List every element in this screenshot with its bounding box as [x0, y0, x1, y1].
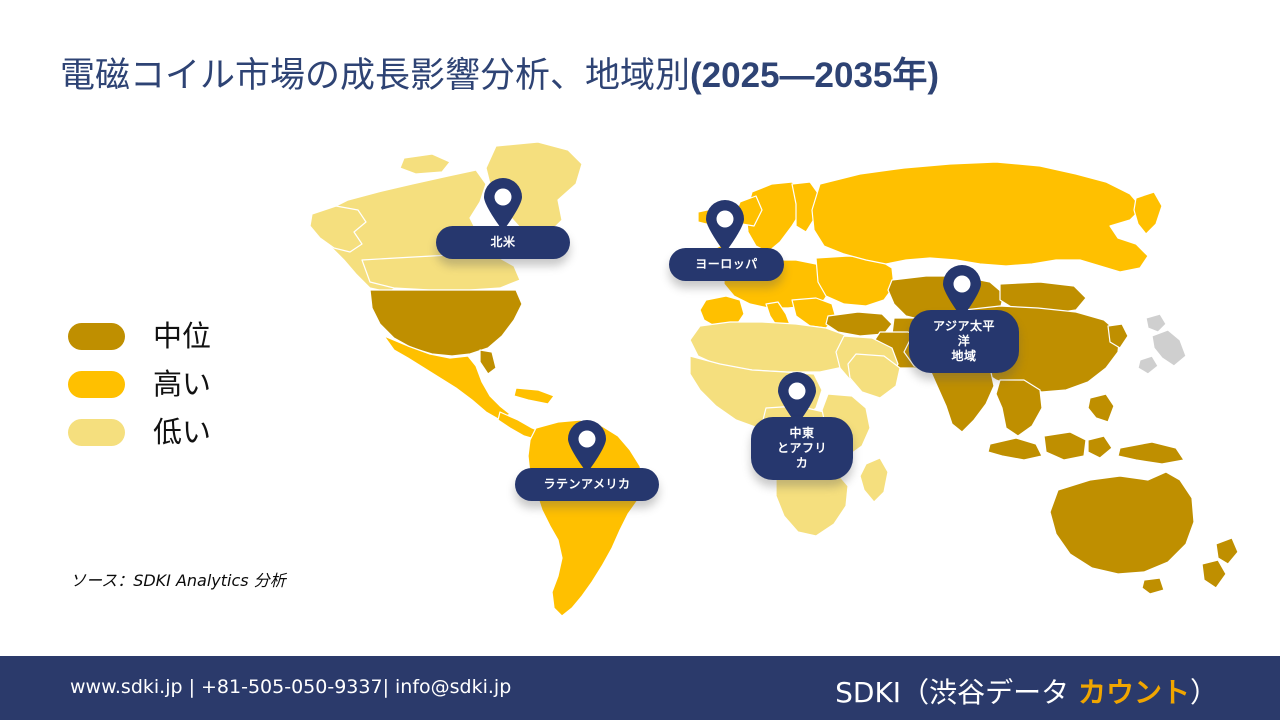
- legend-label-low: 低い: [153, 418, 211, 447]
- map-pin-icon: [482, 178, 524, 232]
- region-alaska: [310, 206, 366, 252]
- slide-canvas: 電磁コイル市場の成長影響分析、地域別(2025—2035年) 中位 高い 低い …: [0, 0, 1280, 720]
- legend-swatch-high: [68, 371, 125, 398]
- region-japan-kyushu: [1138, 356, 1158, 374]
- region-canada-arctic-isles: [400, 154, 450, 174]
- world-map: 北米 ヨーロッパ アジア太平洋 地域 中東 とアフリカ: [300, 140, 1260, 640]
- legend-label-medium: 中位: [153, 322, 211, 351]
- pin-label-latin-america[interactable]: ラテンアメリカ: [515, 468, 659, 501]
- region-new-guinea: [1118, 442, 1184, 464]
- source-note: ソース：SDKI Analytics 分析: [70, 567, 286, 591]
- footer-brand-accent: カウント: [1078, 676, 1190, 709]
- region-russia: [812, 162, 1148, 272]
- legend-item-medium: 中位: [68, 312, 328, 360]
- page-title-main: 電磁コイル市場の成長影響分析、地域別: [60, 56, 690, 95]
- region-new-zealand: [1216, 538, 1238, 564]
- map-pin-icon: [566, 420, 608, 474]
- legend-item-low: 低い: [68, 408, 328, 456]
- legend-label-high: 高い: [153, 370, 211, 399]
- legend-swatch-low: [68, 419, 125, 446]
- region-japan-honshu: [1152, 330, 1186, 366]
- pin-label-north-america[interactable]: 北米: [436, 226, 570, 259]
- region-kamchatka: [1134, 192, 1162, 234]
- legend-item-high: 高い: [68, 360, 328, 408]
- footer-brand-main: SDKI（渋谷データ: [835, 676, 1078, 709]
- pin-label-asia-pacific[interactable]: アジア太平洋 地域: [909, 310, 1019, 373]
- footer-contact-info[interactable]: www.sdki.jp | +81-505-050-9337| info@sdk…: [70, 676, 511, 698]
- page-title: 電磁コイル市場の成長影響分析、地域別(2025—2035年): [60, 54, 1180, 98]
- map-pin-icon: [704, 200, 746, 254]
- region-new-zealand-south: [1202, 560, 1226, 588]
- region-indonesia-borneo: [1044, 432, 1086, 460]
- pin-label-middle-east-africa[interactable]: 中東 とアフリカ: [751, 417, 853, 480]
- footer-bar: www.sdki.jp | +81-505-050-9337| info@sdk…: [0, 656, 1280, 720]
- region-indonesia-sumatra: [988, 438, 1042, 460]
- region-canada-south: [362, 254, 520, 290]
- region-australia: [1050, 472, 1194, 574]
- region-tasmania: [1142, 578, 1164, 594]
- region-indochina: [996, 380, 1042, 436]
- legend: 中位 高い 低い: [68, 312, 328, 456]
- region-caribbean: [514, 388, 554, 404]
- footer-brand-tail: ）: [1190, 676, 1218, 709]
- pin-label-europe[interactable]: ヨーロッパ: [669, 248, 784, 281]
- region-us-florida: [480, 350, 496, 374]
- page-title-range: (2025—2035年): [690, 56, 939, 95]
- footer-brand: SDKI（渋谷データ カウント）: [835, 671, 1218, 711]
- region-sulawesi: [1088, 436, 1112, 458]
- legend-swatch-medium: [68, 323, 125, 350]
- region-madagascar: [860, 458, 888, 502]
- region-philippines: [1088, 394, 1114, 422]
- region-japan: [1146, 314, 1166, 332]
